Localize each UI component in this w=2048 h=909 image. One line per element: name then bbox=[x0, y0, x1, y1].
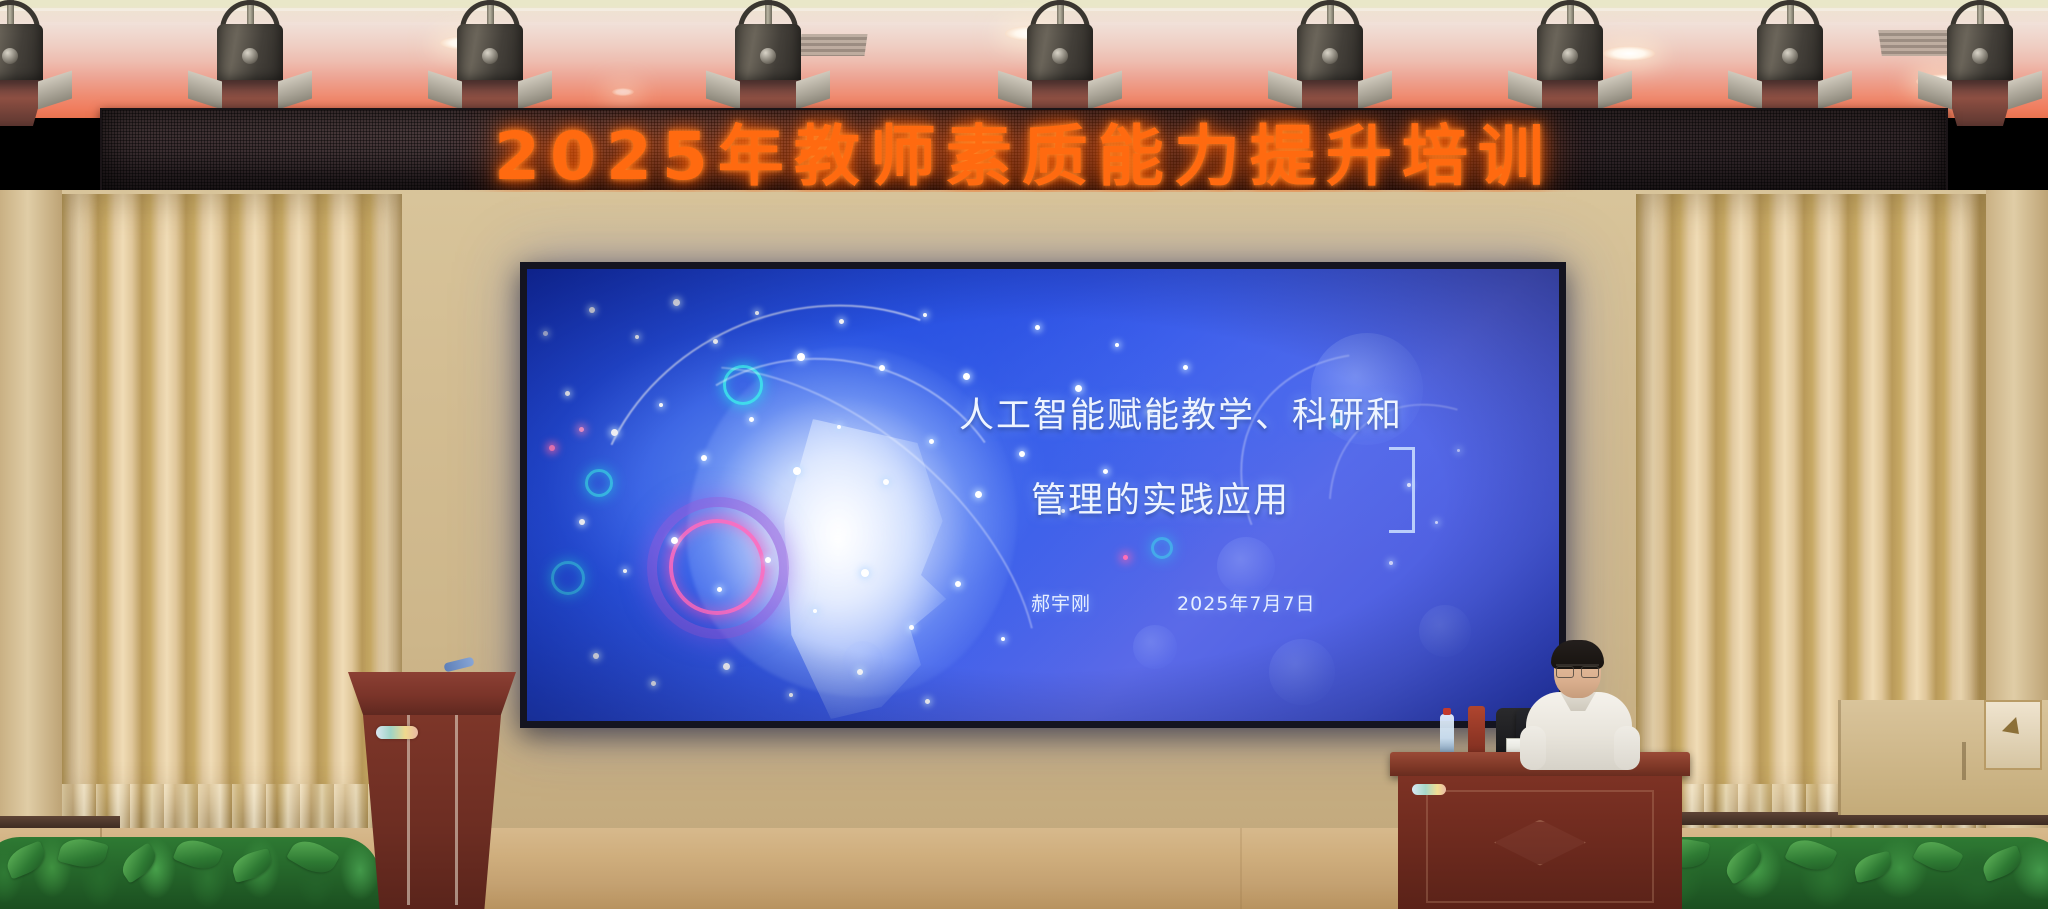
glasses-icon bbox=[1556, 664, 1599, 674]
ceiling-downlight bbox=[1603, 46, 1655, 61]
podium-emblem-icon bbox=[376, 726, 418, 739]
podium-body bbox=[363, 715, 501, 909]
ceiling-vent bbox=[1878, 30, 1956, 56]
seated-presenter bbox=[1520, 640, 1640, 770]
auditorium-scene: 2025年教师素质能力提升培训 bbox=[0, 0, 2048, 909]
slide-title-line-2: 管理的实践应用 bbox=[953, 472, 1513, 523]
led-banner-text: 2025年教师素质能力提升培训 bbox=[494, 108, 1554, 194]
led-display-screen: 人工智能赋能教学、科研和 管理的实践应用 郝宇刚 2025年7月7日 bbox=[520, 262, 1566, 728]
slide-byline: 郝宇刚 2025年7月7日 bbox=[953, 589, 1513, 616]
desk-emblem-icon bbox=[1412, 784, 1446, 795]
slide-date: 2025年7月7日 bbox=[1177, 589, 1316, 616]
podium[interactable] bbox=[348, 672, 516, 909]
wall-panel-left bbox=[0, 190, 62, 830]
wooden-stand bbox=[1468, 706, 1485, 756]
decorative-plants-left bbox=[0, 837, 380, 909]
wall-cabinet-handle bbox=[1962, 742, 1966, 780]
floor-seam bbox=[1240, 828, 1242, 909]
podium-top bbox=[348, 672, 516, 715]
slide-title-line-1: 人工智能赋能教学、科研和 bbox=[953, 387, 1513, 438]
ceiling-downlight bbox=[612, 88, 634, 96]
desk-front-panel bbox=[1398, 776, 1682, 909]
slide-text-block: 人工智能赋能教学、科研和 管理的实践应用 郝宇刚 2025年7月7日 bbox=[953, 387, 1513, 616]
ceiling-vent bbox=[798, 34, 867, 56]
slide-presenter-name: 郝宇刚 bbox=[1031, 589, 1091, 616]
presenter-desk[interactable]: 郝宇刚 bbox=[1390, 752, 1690, 909]
led-banner: 2025年教师素质能力提升培训 bbox=[100, 108, 1948, 194]
